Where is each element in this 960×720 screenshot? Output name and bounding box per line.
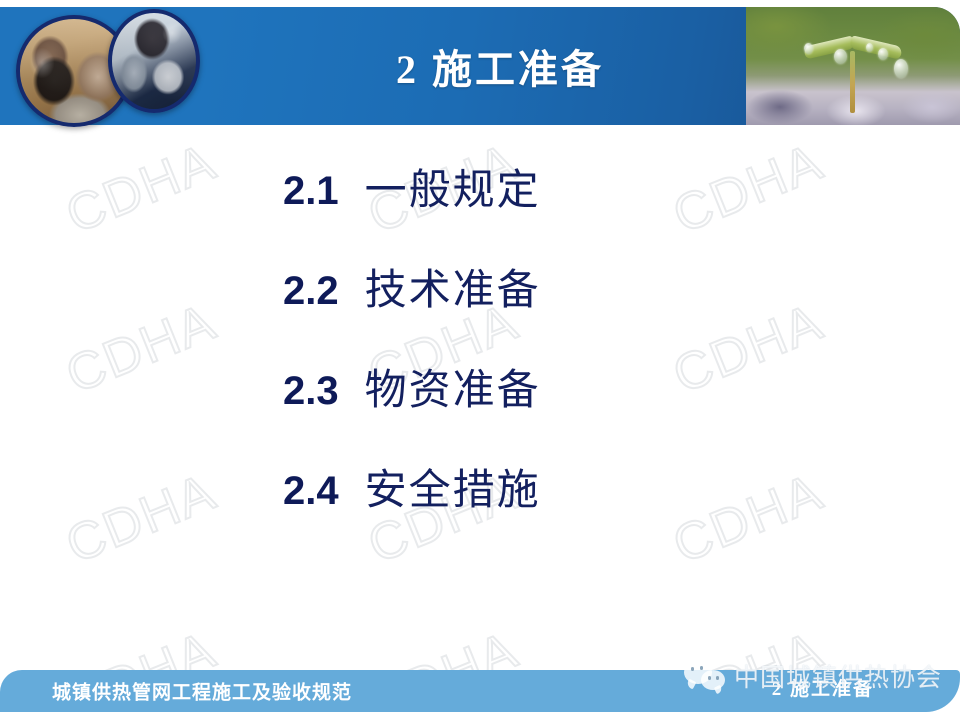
page-title: 2 施工准备 bbox=[250, 7, 750, 125]
list-item-label: 安全措施 bbox=[365, 470, 541, 512]
outline-list: 2.1 一般规定 2.2 技术准备 2.3 物资准备 2.4 安全措施 bbox=[0, 170, 960, 570]
list-item-number: 2.1 bbox=[283, 171, 339, 211]
water-droplet-icon bbox=[804, 43, 813, 54]
presentation-slide: 2 施工准备 2.1 一般规定 2.2 技术准备 2.3 物资准备 2.4 安全… bbox=[0, 0, 960, 720]
header-photo-group bbox=[8, 7, 248, 125]
wechat-eye bbox=[700, 666, 704, 670]
water-droplet-icon bbox=[866, 43, 873, 52]
list-item-number: 2.4 bbox=[283, 471, 339, 511]
water-droplet-icon bbox=[834, 49, 847, 64]
handshake-photo bbox=[108, 9, 200, 113]
footer-section-label: 2 施工准备 bbox=[772, 674, 874, 701]
list-item-label: 一般规定 bbox=[365, 170, 541, 212]
list-item-number: 2.3 bbox=[283, 371, 339, 411]
list-item-label: 技术准备 bbox=[365, 270, 541, 312]
page-title-text: 2 施工准备 bbox=[396, 37, 604, 95]
sprout-stem bbox=[850, 51, 855, 113]
list-item[interactable]: 2.3 物资准备 bbox=[0, 370, 960, 470]
footer-right-bar: 2 施工准备 bbox=[480, 670, 960, 712]
list-item[interactable]: 2.2 技术准备 bbox=[0, 270, 960, 370]
list-item-number: 2.2 bbox=[283, 271, 339, 311]
top-white-margin bbox=[0, 0, 960, 7]
water-droplet-icon bbox=[894, 59, 908, 78]
green-sprout-dew-photo bbox=[746, 7, 960, 125]
list-item[interactable]: 2.1 一般规定 bbox=[0, 170, 960, 270]
footer-document-title: 城镇供热管网工程施工及验收规范 bbox=[52, 678, 352, 705]
bottom-white-margin bbox=[0, 712, 960, 720]
list-item[interactable]: 2.4 安全措施 bbox=[0, 470, 960, 570]
list-item-label: 物资准备 bbox=[365, 370, 541, 412]
water-droplet-icon bbox=[878, 48, 888, 60]
footer-left-bar: 城镇供热管网工程施工及验收规范 bbox=[0, 670, 500, 712]
